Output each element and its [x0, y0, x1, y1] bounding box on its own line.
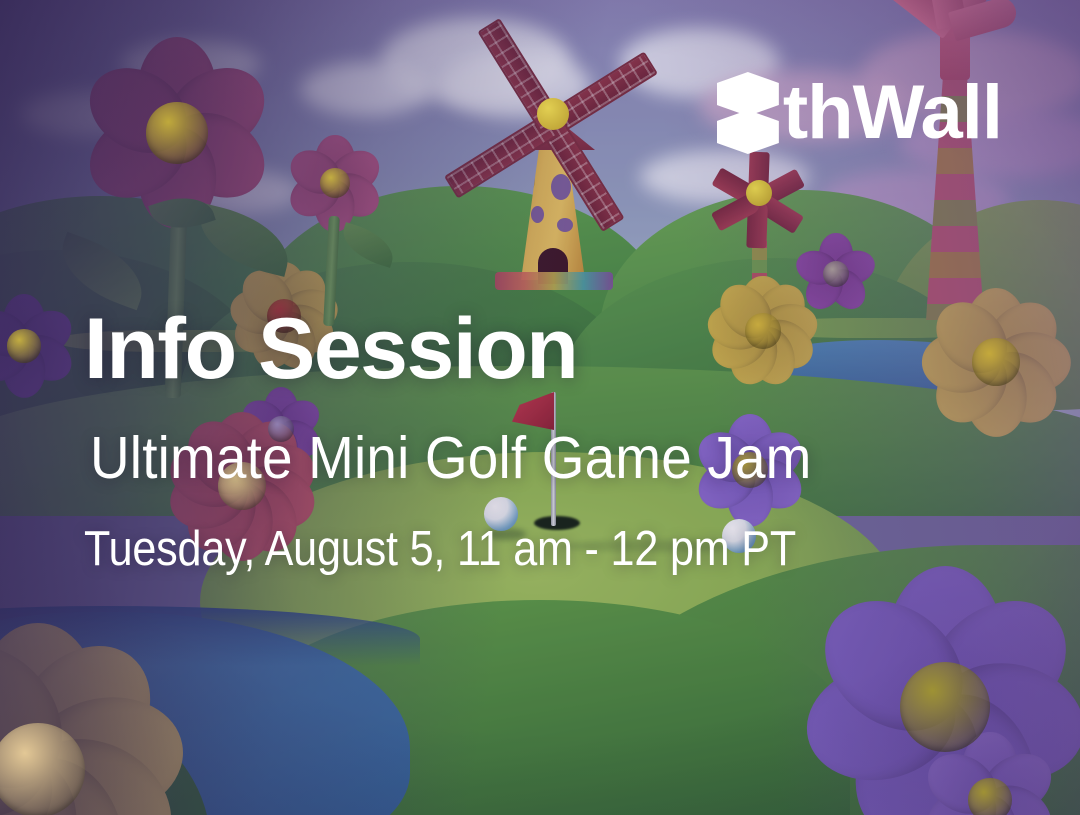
cloud [300, 62, 430, 116]
flower-core [823, 261, 849, 287]
8thwall-logo[interactable]: thWall [717, 72, 1002, 154]
flower-yellow-bottomleft [0, 640, 168, 815]
windmill-hub [537, 98, 569, 130]
event-poster: thWall Info Session Ultimate Mini Golf G… [0, 0, 1080, 815]
windmill-base-deck [495, 272, 613, 290]
logo-wordmark: thWall [783, 79, 1002, 147]
striped-tower [900, 0, 1020, 320]
windmill-spot [527, 170, 535, 190]
flower-core [968, 778, 1011, 815]
flower-core [900, 662, 990, 752]
flower-pink-small-left [292, 140, 378, 226]
windmill [455, 20, 650, 290]
event-subtitle: Ultimate Mini Golf Game Jam [90, 428, 921, 490]
headline-block: Info Session Ultimate Mini Golf Game Jam… [84, 306, 984, 575]
page-title: Info Session [84, 306, 984, 392]
flower-core [146, 102, 207, 163]
flower-pink-large-topleft [92, 48, 262, 218]
windmill-spot [557, 218, 573, 232]
event-datetime: Tuesday, August 5, 11 am - 12 pm PT [84, 524, 876, 575]
flower-purple-hill [800, 238, 872, 310]
pinwheel-hub [746, 180, 772, 206]
flower-purple-edge-left [0, 300, 70, 392]
flower-core [0, 723, 85, 815]
logo-hexagon-8-icon [717, 72, 779, 154]
flower-core [7, 329, 40, 362]
windmill-spot [531, 206, 544, 223]
